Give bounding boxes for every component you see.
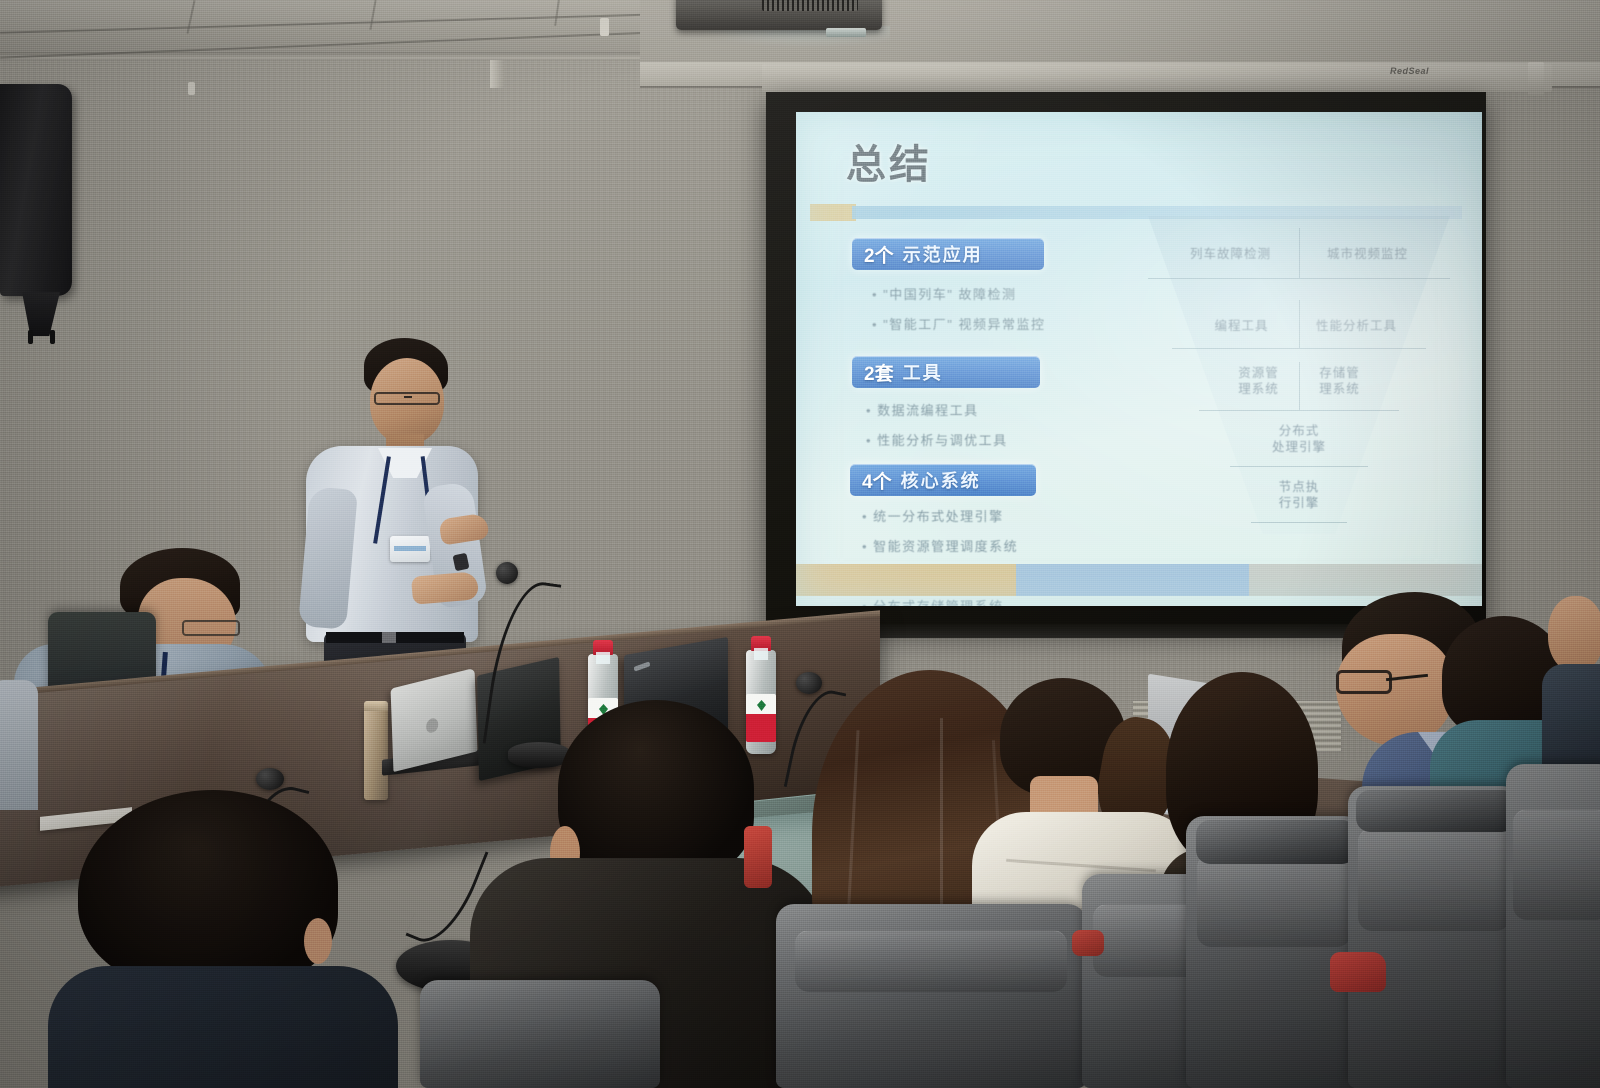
chair-armrest-right-2 xyxy=(1356,790,1516,832)
fg-left-hair xyxy=(78,790,338,990)
bullet-item: 数据流编程工具 xyxy=(866,400,1008,419)
bullet-item: "中国列车" 故障检测 xyxy=(872,284,1046,303)
attendee-left-glasses-icon xyxy=(182,620,240,636)
conference-room-photo: RedSeal 总结 2个 示范应用 "中国列车" 故障检测 "智能工厂" 视频… xyxy=(0,0,1600,1088)
chair-backrest-pad xyxy=(1513,809,1600,919)
footer-segment-gold xyxy=(796,564,1016,596)
bullet-item: "智能工厂" 视频异常监控 xyxy=(872,314,1046,333)
fg-left-jacket xyxy=(48,966,398,1088)
chip-label-3: 核心系统 xyxy=(901,467,981,493)
attendee-foreground-left xyxy=(68,790,398,1088)
projection-screen-housing xyxy=(762,64,1552,92)
funnel-vsep-2 xyxy=(1299,300,1300,348)
mic-capsule-icon xyxy=(496,562,518,584)
fg-left-ear xyxy=(304,918,332,964)
funnel-divider-1 xyxy=(1148,278,1450,279)
presenter-badge-stripe xyxy=(394,546,426,551)
slide-section-chip-2: 2套 工具 xyxy=(852,356,1040,388)
chair-armrest-right-1 xyxy=(1196,820,1356,864)
chip-number-2: 2套 xyxy=(864,359,894,386)
projector-vent-icon xyxy=(762,0,858,11)
edge-right-torso xyxy=(1542,664,1600,768)
bullet-item: 性能分析与调优工具 xyxy=(866,430,1008,449)
mic-capsule-icon xyxy=(256,768,284,790)
presenter-hand-lower xyxy=(411,571,479,605)
glasses-male-glasses-icon xyxy=(1336,670,1392,694)
red-item-on-chair xyxy=(1330,952,1386,992)
funnel-row-4: 分布式 处理引擎 xyxy=(1148,420,1450,460)
bullet-item: 智能资源管理调度系统 xyxy=(862,536,1060,555)
speaker-bolt-2 xyxy=(50,330,55,344)
funnel-cell: 列车故障检测 xyxy=(1162,247,1299,263)
funnel-divider-5 xyxy=(1251,522,1348,523)
screen-housing-end-cap xyxy=(1528,62,1544,96)
funnel-divider-3 xyxy=(1199,410,1398,411)
funnel-cell: 性能分析工具 xyxy=(1299,319,1414,335)
thermos-flask xyxy=(364,708,388,800)
attendee-edge-right xyxy=(1548,596,1600,766)
slide-bullets-1: "中国列车" 故障检测 "智能工厂" 视频异常监控 xyxy=(872,284,1046,344)
thermos-cap xyxy=(364,701,388,711)
presenter-glasses-bridge xyxy=(404,396,412,398)
center-male-hair xyxy=(558,700,754,878)
chip-number-3: 4个 xyxy=(862,467,892,494)
slide-section-chip-3: 4个 核心系统 xyxy=(850,464,1036,496)
edge-right-head xyxy=(1548,596,1600,672)
ceiling-hook-right xyxy=(600,18,609,36)
chip-label-1: 示范应用 xyxy=(903,241,983,267)
red-item-center xyxy=(1072,930,1104,956)
funnel-cell: 城市视频监控 xyxy=(1299,247,1436,263)
bullet-item: 统一分布式处理引擎 xyxy=(862,506,1060,525)
funnel-vsep-1 xyxy=(1299,228,1300,278)
funnel-cell: 节点执 行引擎 xyxy=(1148,480,1450,511)
footer-segment-blue xyxy=(1016,564,1249,596)
bottle-neck xyxy=(754,648,768,660)
red-item-left xyxy=(744,826,772,888)
projection-screen-frame: 总结 2个 示范应用 "中国列车" 故障检测 "智能工厂" 视频异常监控 2套 … xyxy=(766,92,1486,626)
funnel-divider-2 xyxy=(1172,348,1426,349)
chair-backrest-pad xyxy=(1358,828,1509,931)
wall-speaker xyxy=(0,84,72,296)
funnel-row-5: 节点执 行引擎 xyxy=(1148,476,1450,516)
presentation-slide: 总结 2个 示范应用 "中国列车" 故障检测 "智能工厂" 视频异常监控 2套 … xyxy=(796,112,1482,606)
chair-backrest-pad xyxy=(1197,854,1352,946)
soffit-drop-trim xyxy=(490,60,504,88)
funnel-cell: 资源管 理系统 xyxy=(1218,366,1299,397)
funnel-vsep-3 xyxy=(1299,362,1300,410)
funnel-cell: 存储管 理系统 xyxy=(1299,366,1380,397)
chair-center-1 xyxy=(776,904,1086,1088)
bullet-item: 分布式存储管理系统 xyxy=(862,596,1060,606)
slide-bullets-2: 数据流编程工具 性能分析与调优工具 xyxy=(866,400,1008,460)
slide-title: 总结 xyxy=(846,132,932,190)
ceiling-hook-left xyxy=(188,82,195,95)
funnel-divider-4 xyxy=(1230,466,1369,467)
projector-lens-icon xyxy=(826,28,866,37)
attendee-edge-left xyxy=(0,640,34,810)
chip-number-1: 2个 xyxy=(864,241,894,268)
slide-section-chip-1: 2个 示范应用 xyxy=(852,238,1044,270)
chair-far-right xyxy=(1506,764,1600,1088)
apple-logo-icon xyxy=(426,717,438,734)
funnel-cell: 分布式 处理引擎 xyxy=(1148,424,1450,455)
funnel-diagram: 列车故障检测 城市视频监控 编程工具 性能分析工具 资源管 理系统 存储管 理系… xyxy=(1148,216,1450,534)
chair-backrest-pad xyxy=(795,930,1068,993)
speaker-bolt-1 xyxy=(28,330,33,344)
presenter-watch xyxy=(452,553,469,572)
edge-left-torso xyxy=(0,680,38,810)
presenter-glasses-icon xyxy=(374,392,440,405)
chip-label-2: 工具 xyxy=(903,359,943,385)
chair-left-foreground xyxy=(420,980,660,1088)
presenter-belt-buckle xyxy=(382,632,396,643)
ceiling-projector xyxy=(676,0,882,30)
funnel-cell: 编程工具 xyxy=(1184,319,1299,335)
screen-brand-label: RedSeal xyxy=(1390,66,1429,76)
bottle-neck xyxy=(596,652,610,664)
title-accent-tab xyxy=(810,204,856,221)
